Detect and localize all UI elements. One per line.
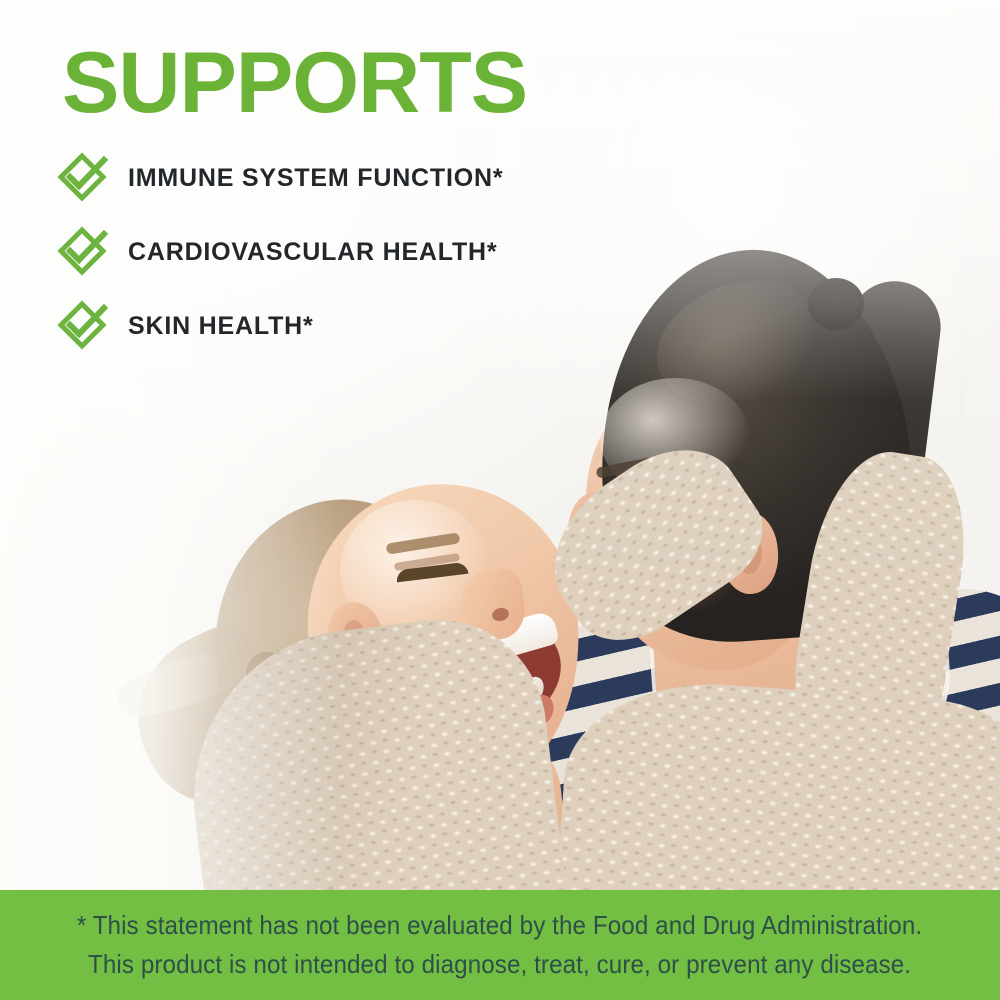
disclaimer-line-2: This product is not intended to diagnose…	[88, 946, 911, 983]
mother-hair-tie	[808, 278, 864, 330]
disclaimer-band: * This statement has not been evaluated …	[0, 890, 1000, 1000]
green-check-diamond-icon	[56, 226, 108, 278]
benefits-list: IMMUNE SYSTEM FUNCTION* CARDIOVASCULAR H…	[56, 152, 503, 352]
disclaimer-line-1: * This statement has not been evaluated …	[77, 907, 922, 944]
page-title: SUPPORTS	[62, 40, 527, 126]
green-check-diamond-icon	[56, 300, 108, 352]
list-item: CARDIOVASCULAR HEALTH*	[56, 226, 503, 278]
product-benefits-graphic: SUPPORTS IMMUNE SYSTEM FUNCTION* CARDIOV…	[0, 0, 1000, 1000]
lifestyle-photo	[0, 0, 1000, 1000]
list-item-label: SKIN HEALTH*	[128, 312, 314, 341]
green-check-diamond-icon	[56, 152, 108, 204]
list-item-label: IMMUNE SYSTEM FUNCTION*	[128, 164, 503, 193]
list-item: IMMUNE SYSTEM FUNCTION*	[56, 152, 503, 204]
list-item-label: CARDIOVASCULAR HEALTH*	[128, 238, 497, 267]
list-item: SKIN HEALTH*	[56, 300, 503, 352]
window-frame-line	[0, 0, 1, 1000]
